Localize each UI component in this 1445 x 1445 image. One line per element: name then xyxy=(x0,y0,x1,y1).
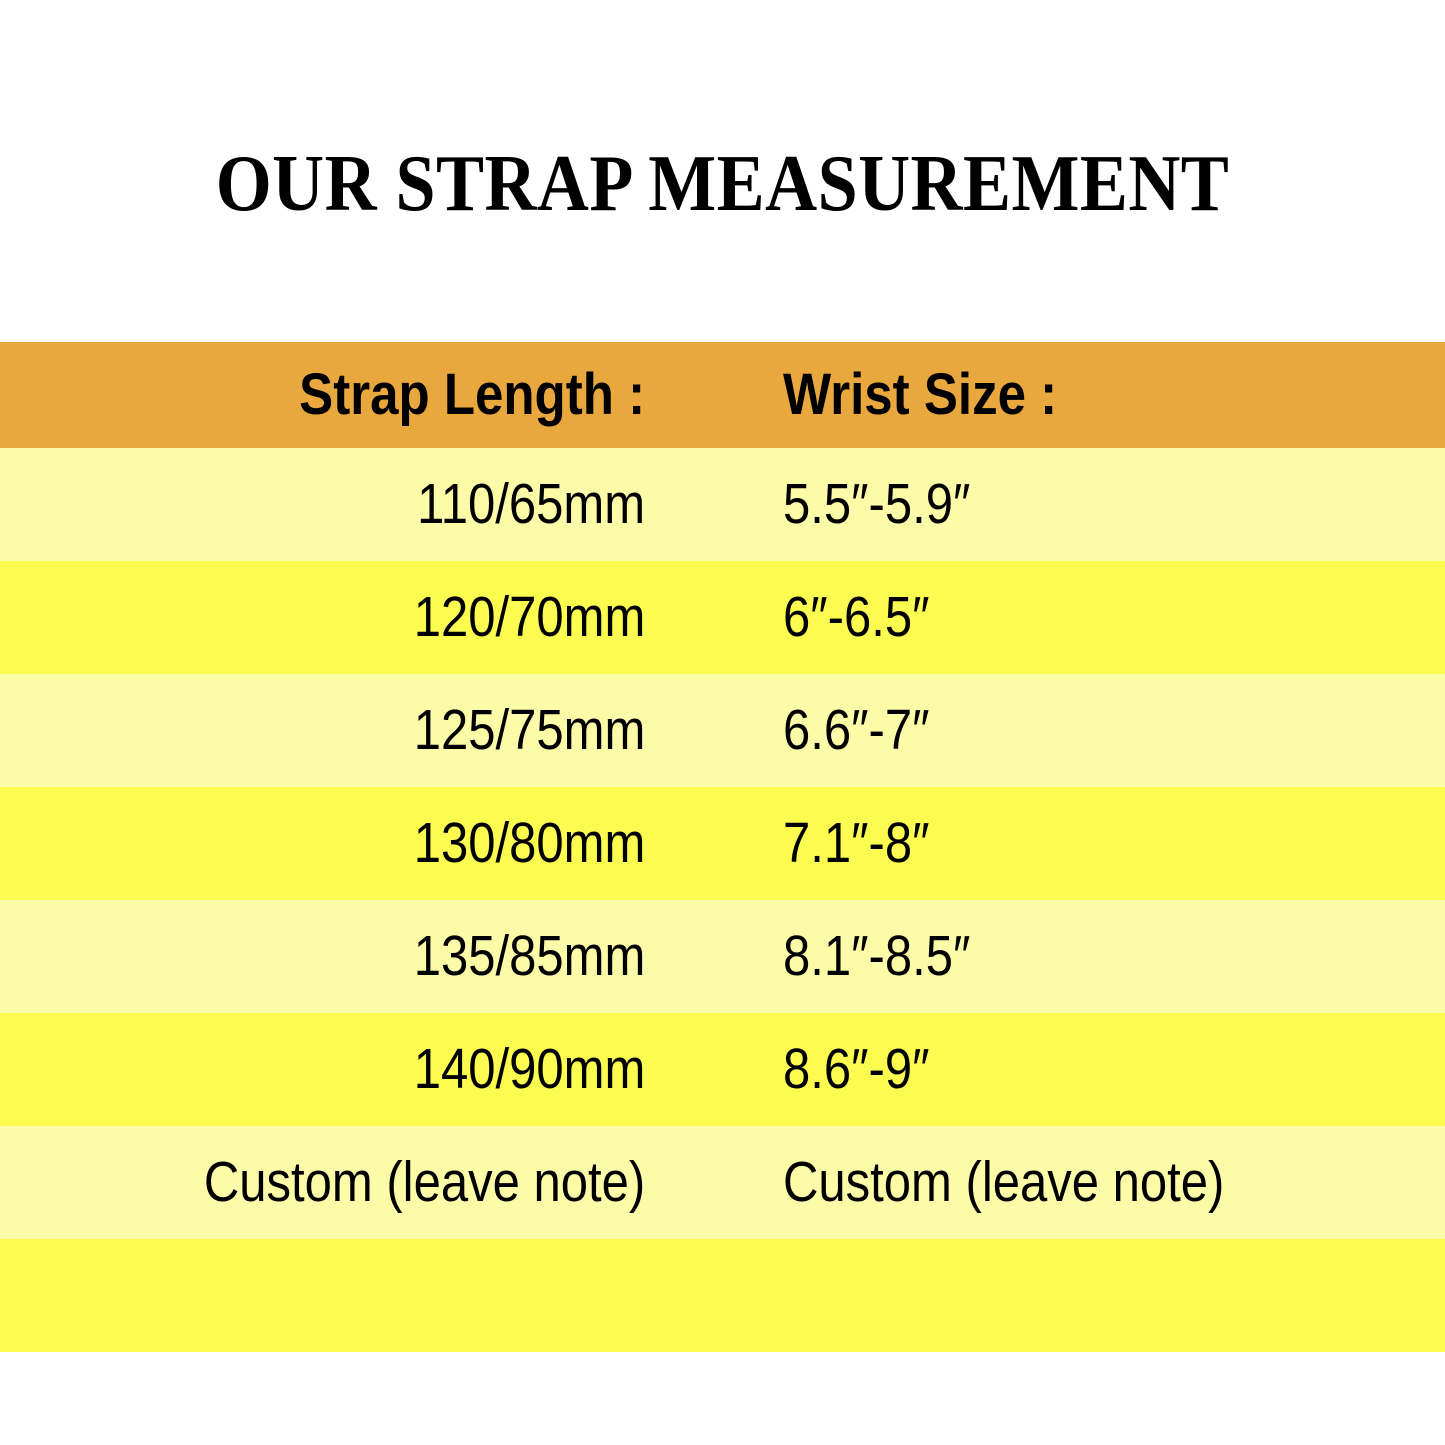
table-row: 120/70mm 6″-6.5″ xyxy=(0,561,1445,674)
cell-strap-length: 135/85mm xyxy=(0,900,645,1013)
cell-strap-length: 125/75mm xyxy=(0,674,645,787)
table-row: 125/75mm 6.6″-7″ xyxy=(0,674,1445,787)
cell-strap-length-custom-value: Custom (leave note) xyxy=(204,1154,645,1211)
cell-strap-length: 110/65mm xyxy=(0,448,645,561)
cell-wrist-size-value: 6.6″-7″ xyxy=(783,702,929,759)
table-header-row: Strap Length : Wrist Size : xyxy=(0,342,1445,448)
cell-wrist-size: 8.1″-8.5″ xyxy=(783,900,1343,1013)
cell-wrist-size-custom: Custom (leave note) xyxy=(783,1126,1343,1239)
table-row-custom: Custom (leave note) Custom (leave note) xyxy=(0,1126,1445,1239)
cell-wrist-size: 8.6″-9″ xyxy=(783,1013,1343,1126)
column-header-wrist-size: Wrist Size : xyxy=(783,342,1343,448)
cell-wrist-size-value: 8.6″-9″ xyxy=(783,1041,929,1098)
column-header-wrist-size-label: Wrist Size : xyxy=(783,366,1057,424)
cell-wrist-size: 7.1″-8″ xyxy=(783,787,1343,900)
table-row-empty xyxy=(0,1239,1445,1352)
table-row: 140/90mm 8.6″-9″ xyxy=(0,1013,1445,1126)
column-header-strap-length-label: Strap Length : xyxy=(299,366,645,424)
cell-strap-length-custom: Custom (leave note) xyxy=(0,1126,645,1239)
cell-strap-length: 130/80mm xyxy=(0,787,645,900)
cell-strap-length-value: 135/85mm xyxy=(413,928,645,985)
cell-wrist-size-value: 8.1″-8.5″ xyxy=(783,928,970,985)
measurement-table: Strap Length : Wrist Size : 110/65mm 5.5… xyxy=(0,342,1445,1352)
table-row: 135/85mm 8.1″-8.5″ xyxy=(0,900,1445,1013)
cell-wrist-size: 6″-6.5″ xyxy=(783,561,1343,674)
cell-strap-length-value: 130/80mm xyxy=(413,815,645,872)
cell-wrist-size: 6.6″-7″ xyxy=(783,674,1343,787)
cell-strap-length: 120/70mm xyxy=(0,561,645,674)
cell-wrist-size-custom-value: Custom (leave note) xyxy=(783,1154,1224,1211)
cell-strap-length: 140/90mm xyxy=(0,1013,645,1126)
cell-wrist-size: 5.5″-5.9″ xyxy=(783,448,1343,561)
column-header-strap-length: Strap Length : xyxy=(0,342,645,448)
page-title: OUR STRAP MEASUREMENT xyxy=(72,142,1373,226)
cell-strap-length-value: 125/75mm xyxy=(413,702,645,759)
cell-wrist-size-value: 7.1″-8″ xyxy=(783,815,929,872)
table-row: 130/80mm 7.1″-8″ xyxy=(0,787,1445,900)
cell-strap-length-value: 110/65mm xyxy=(417,476,645,533)
strap-measurement-chart: OUR STRAP MEASUREMENT Strap Length : Wri… xyxy=(0,0,1445,1445)
cell-strap-length-value: 120/70mm xyxy=(413,589,645,646)
cell-wrist-size-value: 5.5″-5.9″ xyxy=(783,476,970,533)
table-row: 110/65mm 5.5″-5.9″ xyxy=(0,448,1445,561)
cell-wrist-size-value: 6″-6.5″ xyxy=(783,589,929,646)
cell-strap-length-value: 140/90mm xyxy=(413,1041,645,1098)
